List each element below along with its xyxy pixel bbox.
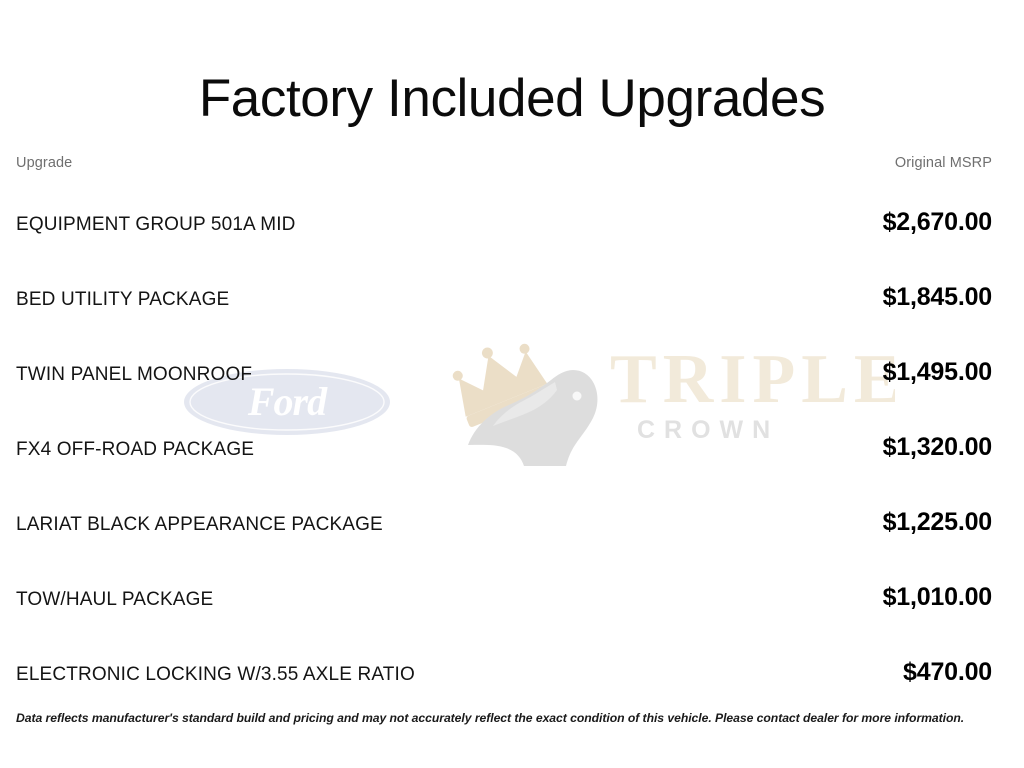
column-header-msrp: Original MSRP (895, 155, 992, 171)
table-row: LARIAT BLACK APPEARANCE PACKAGE $1,225.0… (0, 508, 1024, 583)
table-row: TWIN PANEL MOONROOF $1,495.00 (0, 358, 1024, 433)
column-header-upgrade: Upgrade (16, 155, 72, 171)
table-row: EQUIPMENT GROUP 501A MID $2,670.00 (0, 208, 1024, 283)
upgrade-name: ELECTRONIC LOCKING W/3.55 AXLE RATIO (16, 664, 415, 686)
upgrade-name: FX4 OFF-ROAD PACKAGE (16, 439, 254, 461)
table-header-row: Upgrade Original MSRP (0, 155, 1024, 208)
upgrade-price: $1,225.00 (883, 508, 992, 537)
upgrade-price: $470.00 (903, 658, 992, 687)
upgrade-name: TOW/HAUL PACKAGE (16, 589, 213, 611)
upgrade-name: BED UTILITY PACKAGE (16, 289, 229, 311)
upgrade-price: $1,845.00 (883, 283, 992, 312)
table-row: TOW/HAUL PACKAGE $1,010.00 (0, 583, 1024, 658)
upgrade-name: TWIN PANEL MOONROOF (16, 364, 252, 386)
upgrade-price: $1,495.00 (883, 358, 992, 387)
upgrades-table: Upgrade Original MSRP EQUIPMENT GROUP 50… (0, 155, 1024, 733)
upgrade-name: LARIAT BLACK APPEARANCE PACKAGE (16, 514, 383, 536)
upgrade-price: $2,670.00 (883, 208, 992, 237)
upgrade-name: EQUIPMENT GROUP 501A MID (16, 214, 296, 236)
table-row: BED UTILITY PACKAGE $1,845.00 (0, 283, 1024, 358)
upgrade-price: $1,320.00 (883, 433, 992, 462)
table-row: FX4 OFF-ROAD PACKAGE $1,320.00 (0, 433, 1024, 508)
upgrade-price: $1,010.00 (883, 583, 992, 612)
factory-upgrades-page: Ford TRIPLE (0, 0, 1024, 768)
disclaimer-text: Data reflects manufacturer's standard bu… (16, 711, 1008, 725)
page-title: Factory Included Upgrades (0, 70, 1024, 128)
